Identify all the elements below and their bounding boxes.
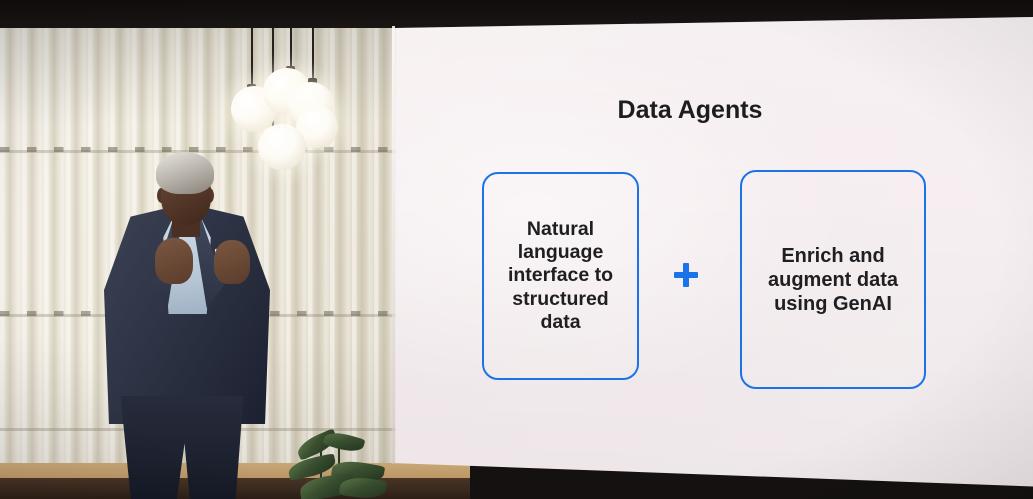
card-natural-language-interface[interactable]: Natural language interface to structured… [482,172,639,380]
page-title: Data Agents [490,96,890,125]
hand-left [155,238,193,284]
card-right-label: Enrich and augment data using GenAI [752,244,914,316]
card-left-label: Natural language interface to structured… [494,218,627,335]
slide-title-wrapper: Data Agents [490,96,890,125]
light-cord [312,28,314,84]
screen-left-edge [392,26,395,464]
light-globe [258,124,306,170]
potted-plant [280,432,400,499]
light-cord [251,28,253,90]
screenshot-frame: Data Agents Natural language interface t… [0,0,1033,499]
plant-leaf [323,429,366,455]
hair [156,152,214,194]
plus-icon-bar-vertical [683,263,689,287]
plus-icon [674,263,698,287]
card-enrich-augment-genai[interactable]: Enrich and augment data using GenAI [740,170,926,389]
hand-right [214,240,250,284]
